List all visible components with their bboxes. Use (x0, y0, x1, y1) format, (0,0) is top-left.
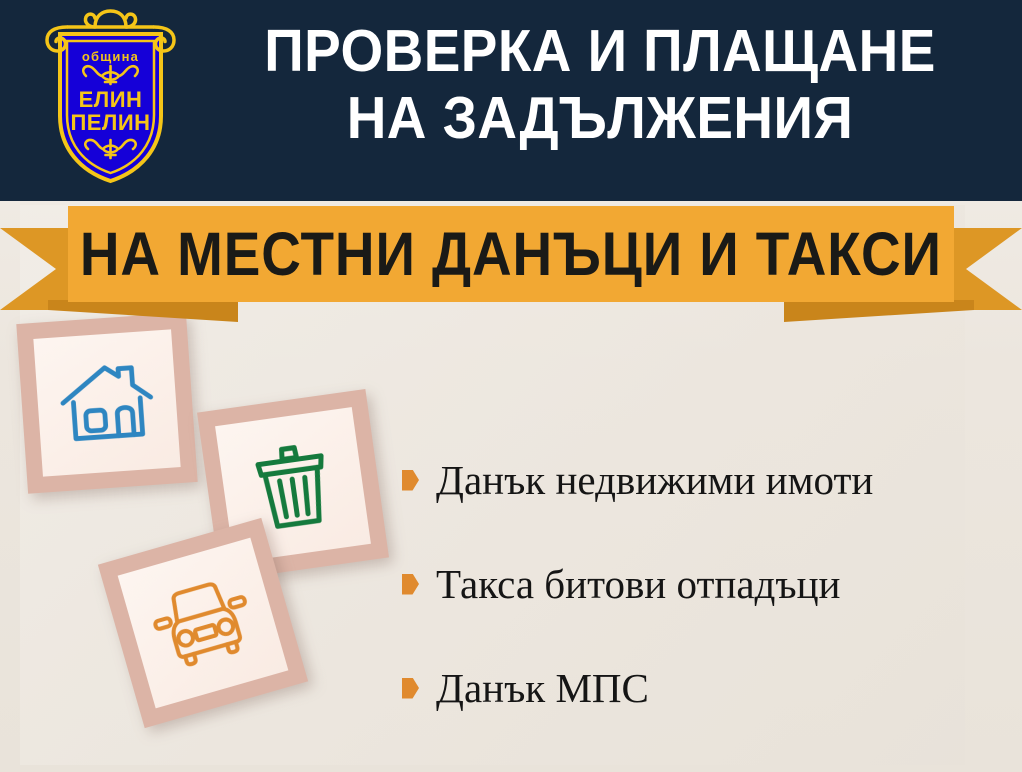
poster-root: ПРОВЕРКА И ПЛАЩАНЕ НА ЗАДЪЛЖЕНИЯ община (0, 0, 1022, 772)
ribbon-banner: НА МЕСТНИ ДАНЪЦИ И ТАКСИ (0, 202, 1022, 312)
logo-line-bottom: ПЕЛИН (70, 110, 150, 135)
list-item[interactable]: Данък недвижими имоти (402, 428, 1012, 532)
services-list: Данък недвижими имоти Такса битови отпад… (402, 428, 1012, 740)
list-item[interactable]: Такса битови отпадъци (402, 532, 1012, 636)
ribbon-main-band: НА МЕСТНИ ДАНЪЦИ И ТАКСИ (68, 206, 954, 302)
list-item-label: Такса битови отпадъци (436, 564, 840, 605)
arrow-right-bullet-icon (402, 574, 419, 595)
list-item-label: Данък МПС (436, 668, 649, 709)
stamp-inner (33, 329, 180, 476)
page-title: ПРОВЕРКА И ПЛАЩАНЕ НА ЗАДЪЛЖЕНИЯ (219, 18, 982, 153)
coat-of-arms-icon: община ЕЛИН ПЕЛИН (38, 8, 183, 190)
ribbon-label: НА МЕСТНИ ДАНЪЦИ И ТАКСИ (80, 219, 942, 289)
house-icon (56, 357, 158, 449)
list-item-label: Данък недвижими имоти (436, 460, 873, 501)
arrow-right-bullet-icon (402, 470, 419, 491)
logo-line-top: община (82, 49, 139, 64)
arrow-right-bullet-icon (402, 678, 419, 699)
car-icon (144, 572, 262, 675)
logo-line-mid: ЕЛИН (79, 87, 143, 112)
list-item[interactable]: Данък МПС (402, 636, 1012, 740)
municipality-logo: община ЕЛИН ПЕЛИН (38, 8, 183, 190)
stamp-card-house (16, 312, 197, 493)
